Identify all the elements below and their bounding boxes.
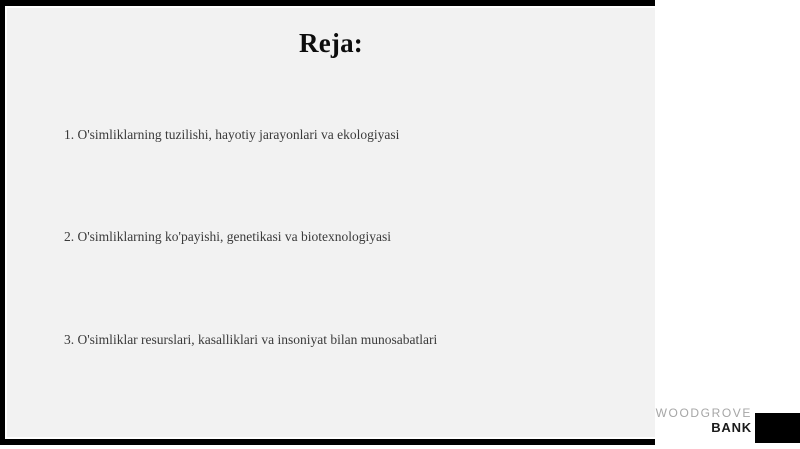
list-item: 2. O'simliklarning ko'payishi, genetikas… — [64, 228, 644, 246]
woodgrove-bank-watermark: WOODGROVE BANK — [655, 406, 800, 446]
slide-content-area: Reja: 1. O'simliklarning tuzilishi, hayo… — [7, 8, 655, 437]
agenda-list: 1. O'simliklarning tuzilishi, hayotiy ja… — [64, 126, 644, 349]
page-title: Reja: — [7, 28, 655, 58]
list-item: 1. O'simliklarning tuzilishi, hayotiy ja… — [64, 126, 644, 144]
watermark-logo-block — [755, 413, 800, 443]
list-item: 3. O'simliklar resurslari, kasalliklari … — [64, 331, 644, 349]
slide-canvas: Reja: 1. O'simliklarning tuzilishi, hayo… — [0, 0, 655, 445]
slide-border-bottom — [0, 439, 655, 445]
slide-border-top — [0, 0, 655, 6]
slide-border-left — [0, 0, 5, 445]
